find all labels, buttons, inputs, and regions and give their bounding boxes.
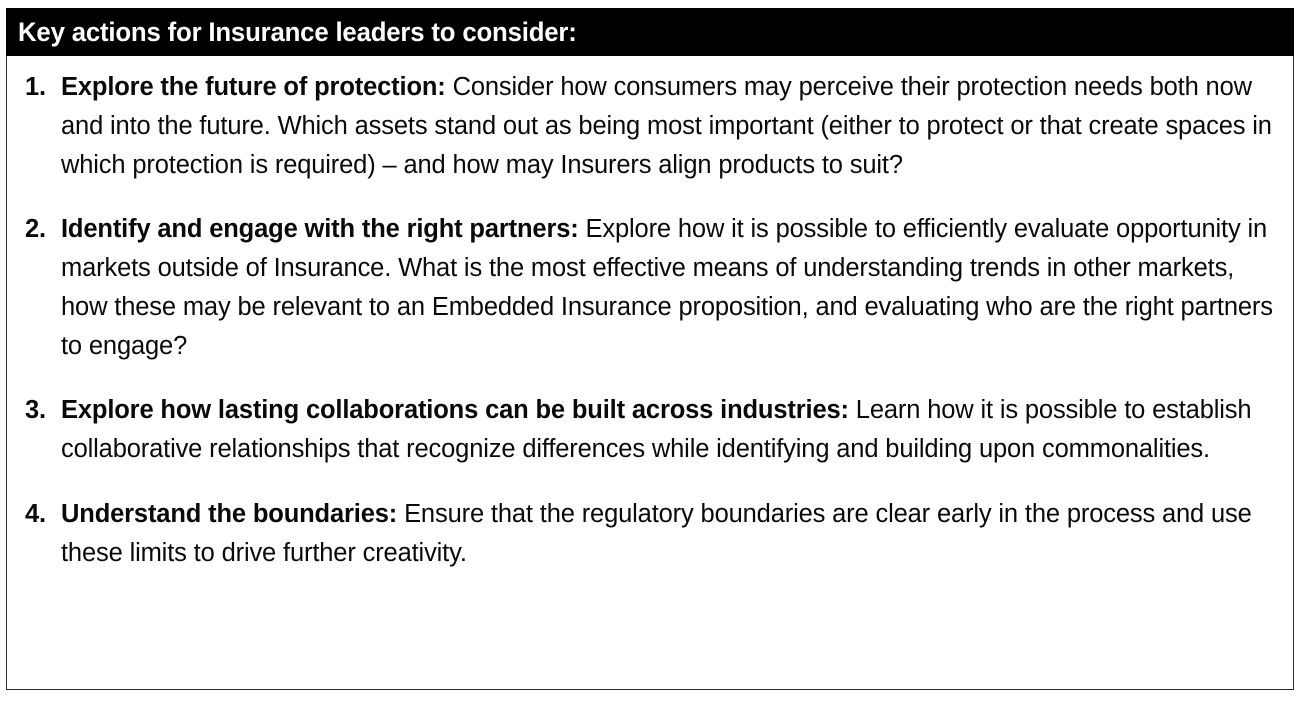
- action-item-number: 3.: [25, 391, 46, 430]
- key-actions-callout: Key actions for Insurance leaders to con…: [6, 8, 1294, 690]
- action-item-number: 2.: [25, 210, 46, 249]
- callout-body: 1. Explore the future of protection: Con…: [6, 56, 1294, 690]
- callout-header: Key actions for Insurance leaders to con…: [6, 8, 1294, 56]
- action-item-lead: Explore the future of protection:: [61, 73, 446, 101]
- callout-header-title: Key actions for Insurance leaders to con…: [18, 19, 577, 46]
- action-item: 3. Explore how lasting collaborations ca…: [19, 391, 1279, 469]
- action-item: 2. Identify and engage with the right pa…: [19, 210, 1279, 365]
- action-item: 1. Explore the future of protection: Con…: [19, 68, 1279, 184]
- action-item-lead: Understand the boundaries:: [61, 500, 397, 528]
- action-list: 1. Explore the future of protection: Con…: [19, 68, 1279, 572]
- action-item-lead: Explore how lasting collaborations can b…: [61, 396, 849, 424]
- action-item-number: 4.: [25, 495, 46, 534]
- action-item-number: 1.: [25, 68, 46, 107]
- action-item: 4. Understand the boundaries: Ensure tha…: [19, 495, 1279, 573]
- action-item-lead: Identify and engage with the right partn…: [61, 215, 579, 243]
